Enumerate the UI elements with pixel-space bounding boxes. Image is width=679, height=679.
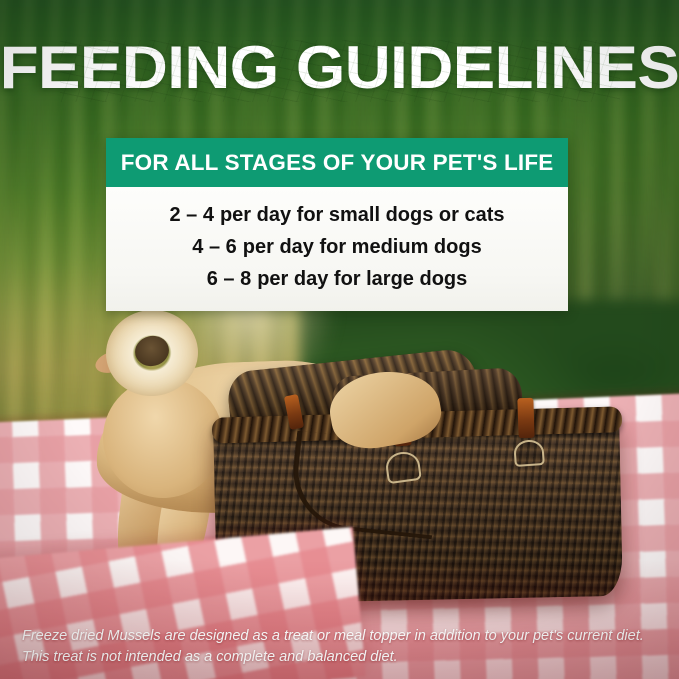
feeding-description: per day for small dogs or cats [220, 204, 505, 226]
feeding-description: per day for large dogs [257, 268, 467, 290]
panel-header-label: FOR ALL STAGES OF YOUR PET'S LIFE [121, 150, 554, 176]
feeding-range: 2 – 4 [169, 204, 213, 226]
disclaimer-line-2: This treat is not intended as a complete… [22, 647, 662, 668]
basket-strap-right [517, 398, 534, 439]
feeding-range: 6 – 8 [207, 268, 251, 290]
feeding-line: 2 – 4per day for small dogs or cats [106, 199, 568, 231]
feeding-guidelines-panel: FOR ALL STAGES OF YOUR PET'S LIFE 2 – 4p… [106, 138, 568, 311]
panel-header: FOR ALL STAGES OF YOUR PET'S LIFE [106, 138, 568, 187]
feeding-description: per day for medium dogs [243, 236, 482, 258]
disclaimer-line-1: Freeze dried Mussels are designed as a t… [22, 626, 662, 647]
disclaimer: Freeze dried Mussels are designed as a t… [22, 626, 662, 668]
feeding-line: 6 – 8per day for large dogs [106, 263, 568, 295]
panel-body: 2 – 4per day for small dogs or cats 4 – … [106, 187, 568, 311]
feeding-range: 4 – 6 [192, 236, 236, 258]
feeding-line: 4 – 6per day for medium dogs [106, 231, 568, 263]
basket-buckle-right [513, 439, 545, 467]
page-title: FEEDING GUIDELINES [0, 36, 679, 100]
feeding-guidelines-graphic: FEEDING GUIDELINES FOR ALL STAGES OF YOU… [0, 0, 679, 679]
